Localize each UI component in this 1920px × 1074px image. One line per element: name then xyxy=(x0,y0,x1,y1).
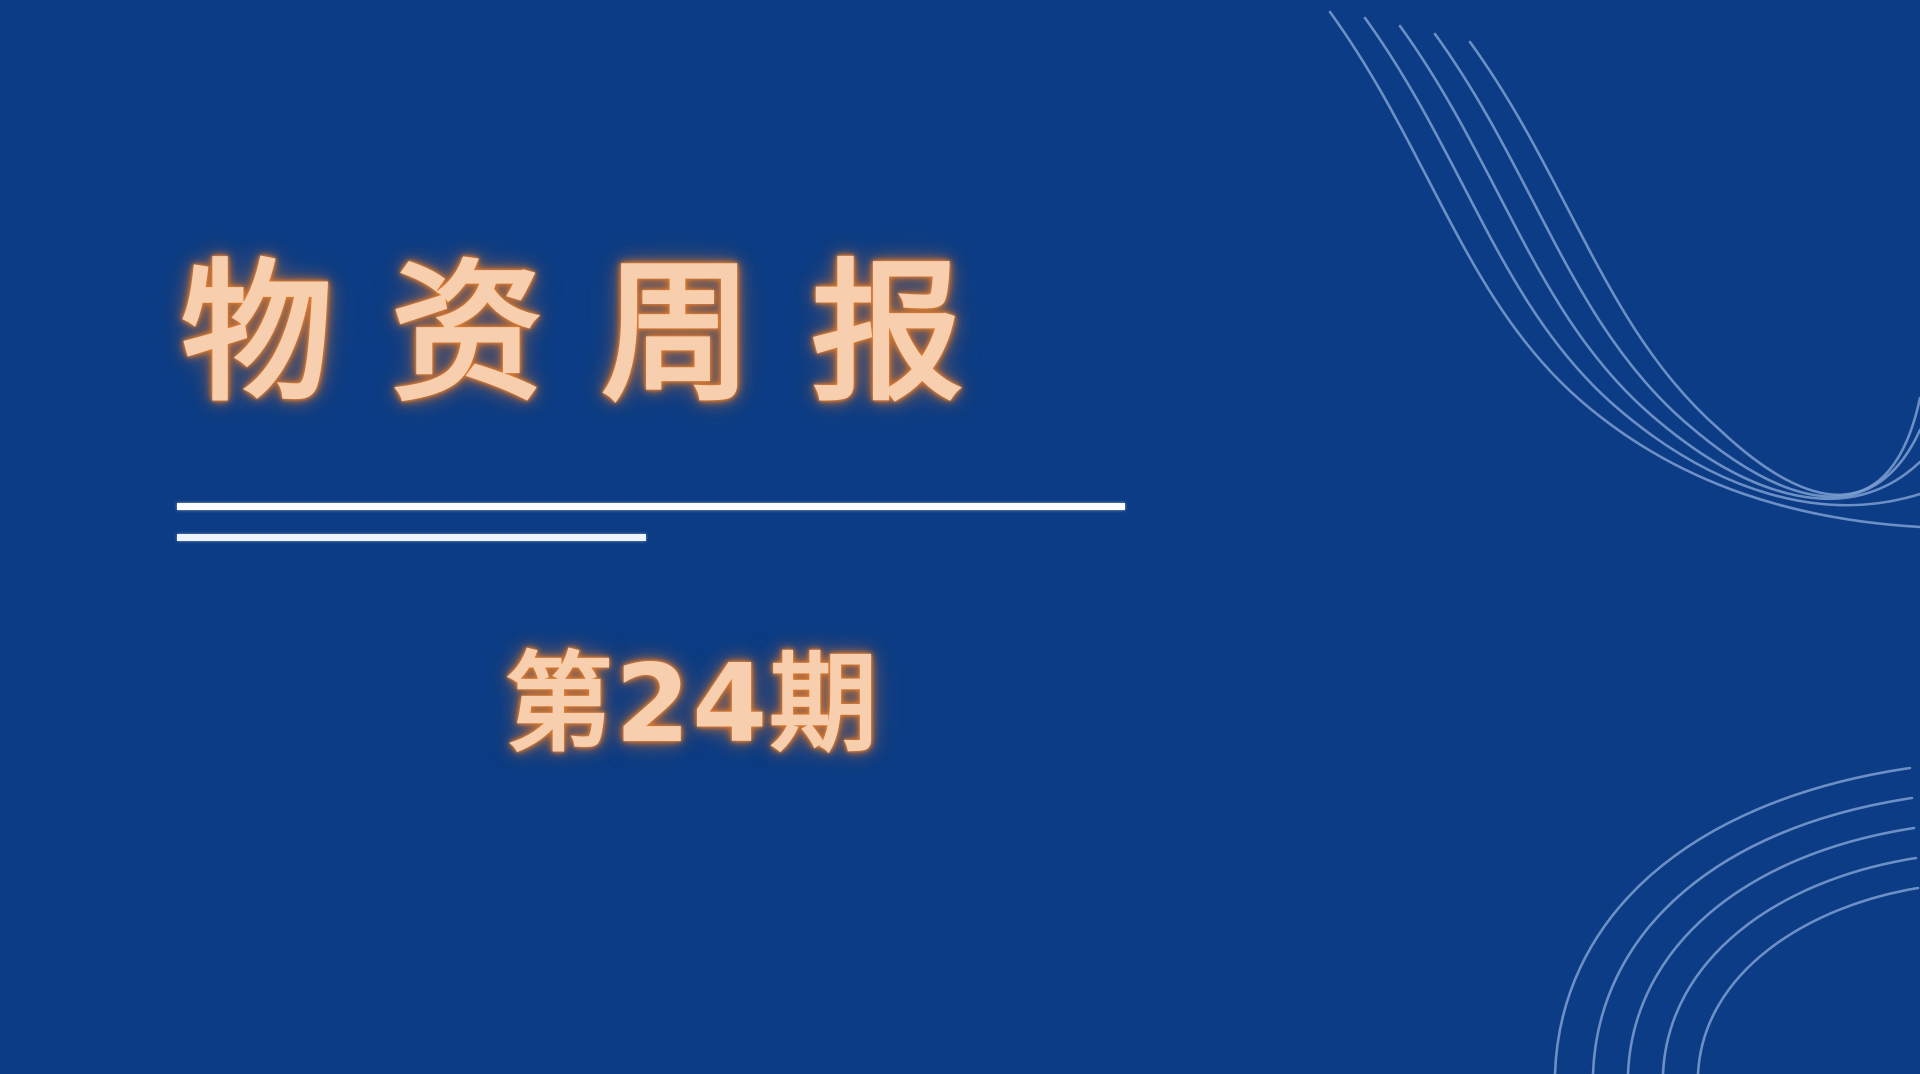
decorative-curves-top-right xyxy=(1280,0,1920,600)
deco-curve-br-4 xyxy=(1663,858,1916,1074)
deco-curve-tr-3 xyxy=(1400,26,1920,499)
deco-curve-br-5 xyxy=(1698,888,1918,1074)
deco-curve-br-3 xyxy=(1628,828,1914,1074)
decorative-curves-bottom-right xyxy=(1500,724,1920,1074)
title-rule-short xyxy=(177,534,646,541)
page-title: 物资周报 xyxy=(177,258,1277,410)
deco-curve-tr-1 xyxy=(1330,12,1920,527)
deco-curve-br-1 xyxy=(1555,768,1910,1074)
title-rule-long xyxy=(177,503,1125,510)
title-block: 物资周报 xyxy=(177,258,1277,410)
page-subtitle: 第24期 xyxy=(505,645,879,766)
deco-curve-tr-4 xyxy=(1435,34,1920,497)
deco-curve-br-2 xyxy=(1593,798,1912,1074)
deco-curve-tr-5 xyxy=(1470,42,1920,495)
deco-curve-tr-2 xyxy=(1365,18,1920,505)
title-slide: 物资周报 第24期 xyxy=(0,0,1920,1074)
